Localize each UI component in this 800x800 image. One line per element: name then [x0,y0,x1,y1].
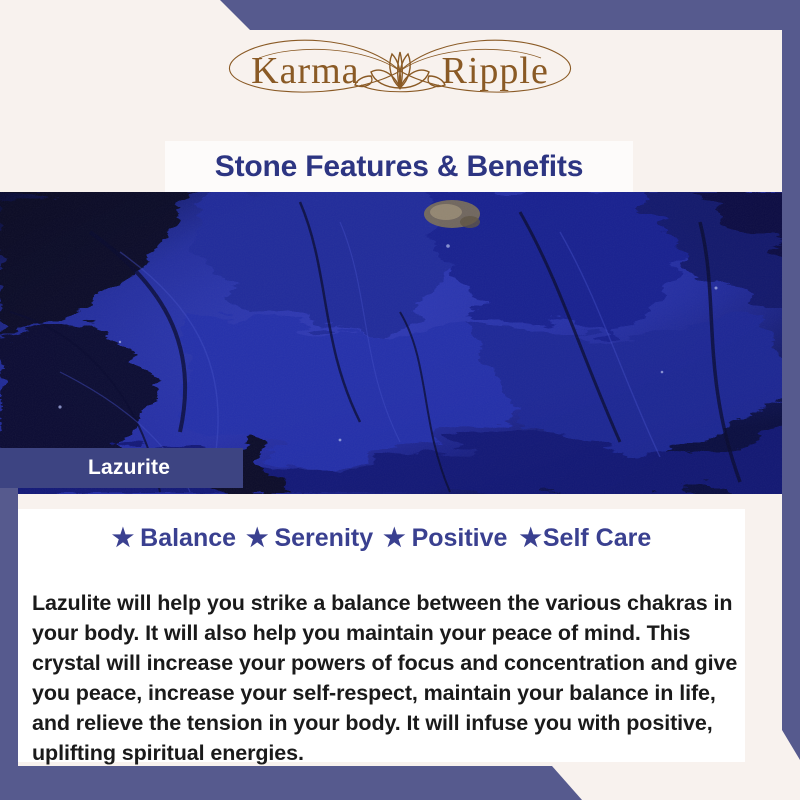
decoration-left-strip [0,476,18,800]
star-icon: ★ [519,526,541,551]
decoration-bottom-bar [0,766,800,800]
stone-name-badge: Lazurite [0,448,243,488]
stone-info-card: Karma Ripple Stone Features & Benefits [0,0,800,800]
brand-name-left: Karma [251,49,359,93]
star-icon: ★ [112,526,134,551]
keyword-balance: ★ Balance [112,524,236,553]
keyword-label: Self Care [543,524,651,553]
stone-description: Lazulite will help you strike a balance … [32,588,742,768]
decoration-right-strip [782,0,800,760]
brand-name-right: Ripple [442,49,549,93]
keyword-label: Balance [140,524,236,553]
brand-logo: Karma Ripple [0,30,800,112]
decoration-top-bar [0,0,800,30]
keyword-label: Serenity [274,524,373,553]
stone-name: Lazurite [88,456,170,480]
content-separator [18,494,745,509]
benefit-keywords: ★ Balance ★ Serenity ★ Positive ★ Self C… [18,524,745,553]
star-icon: ★ [383,526,405,551]
keyword-serenity: ★ Serenity [236,524,373,553]
lotus-flourish-icon [185,32,615,110]
keyword-self-care: ★ Self Care [507,524,651,553]
keyword-label: Positive [412,524,508,553]
page-title-panel: Stone Features & Benefits [165,141,633,192]
keyword-positive: ★ Positive [373,524,507,553]
page-title: Stone Features & Benefits [215,150,583,184]
star-icon: ★ [246,526,268,551]
